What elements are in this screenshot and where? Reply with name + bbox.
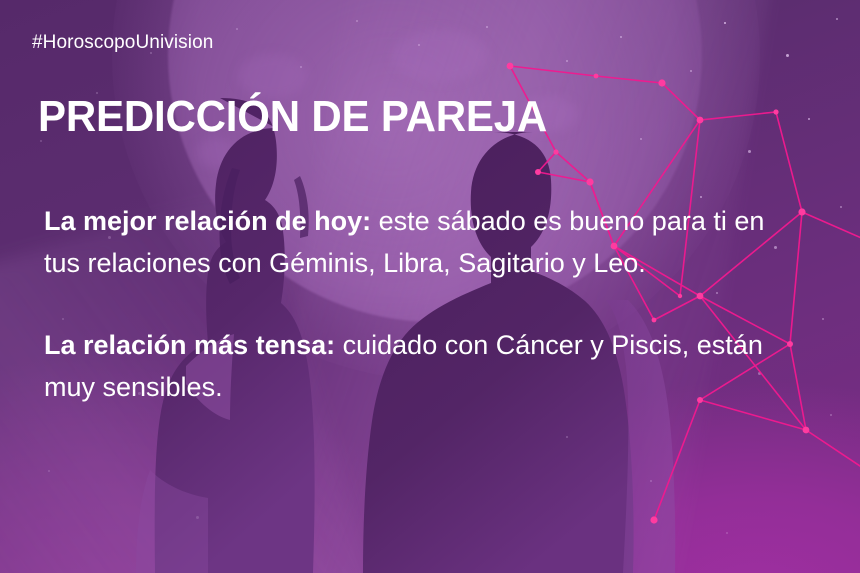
constellation-star bbox=[773, 109, 778, 114]
hashtag-label: #HoroscopoUnivision bbox=[32, 32, 213, 54]
page-title: PREDICCIÓN DE PAREJA bbox=[38, 92, 547, 142]
paragraph-best-relationship: La mejor relación de hoy: este sábado es… bbox=[44, 200, 804, 284]
constellation-star bbox=[507, 63, 514, 70]
horoscope-body: La mejor relación de hoy: este sábado es… bbox=[44, 200, 804, 408]
constellation-star bbox=[697, 117, 704, 124]
constellation-star bbox=[586, 178, 593, 185]
constellation-star bbox=[658, 79, 665, 86]
constellation-star bbox=[553, 149, 558, 154]
constellation-star bbox=[535, 169, 541, 175]
constellation-star bbox=[594, 74, 599, 79]
paragraph-tense-relationship: La relación más tensa: cuidado con Cánce… bbox=[44, 324, 804, 408]
constellation-star bbox=[650, 516, 657, 523]
paragraph-lead: La relación más tensa: bbox=[44, 330, 335, 360]
paragraph-lead: La mejor relación de hoy: bbox=[44, 206, 371, 236]
horoscope-card: #HoroscopoUnivision PREDICCIÓN DE PAREJA… bbox=[0, 0, 860, 573]
constellation-star bbox=[803, 427, 810, 434]
